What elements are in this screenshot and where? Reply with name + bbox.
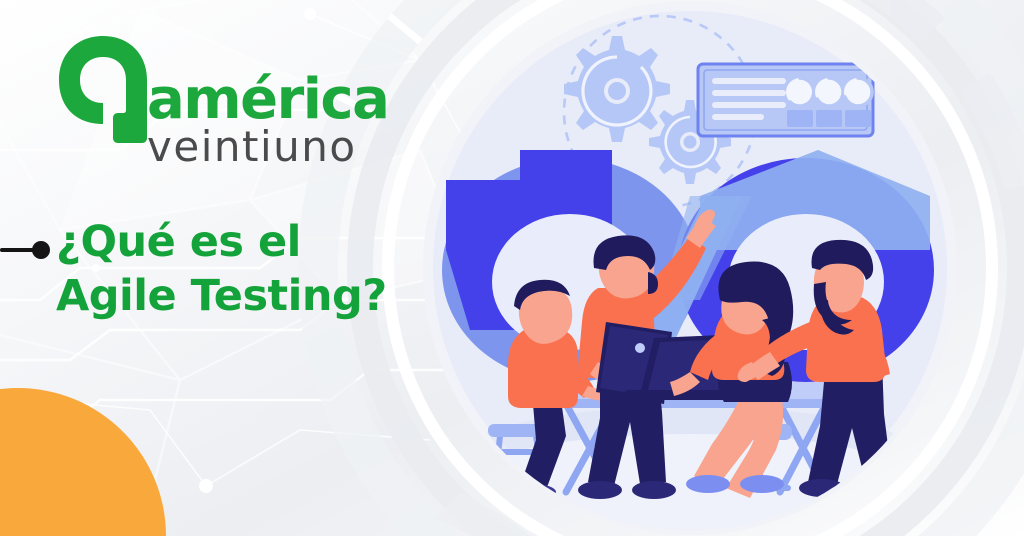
blog-cover-banner: américa veintiuno ¿Qué es el Agile Testi… bbox=[0, 0, 1024, 536]
page-title-line-2: Agile Testing? bbox=[56, 270, 426, 324]
logo-primary-text: américa bbox=[147, 72, 388, 128]
bullet-dot-icon bbox=[32, 241, 50, 259]
logo-secondary-text: veintiuno bbox=[147, 126, 357, 168]
page-title-line-1: ¿Qué es el bbox=[56, 216, 426, 270]
america-veintiuno-a-mark bbox=[55, 34, 151, 144]
dashboard-panel bbox=[698, 64, 873, 136]
page-title: ¿Qué es el Agile Testing? bbox=[56, 216, 426, 324]
brand-logo[interactable]: américa veintiuno bbox=[55, 34, 415, 164]
gear-large bbox=[564, 36, 670, 142]
panel-bars bbox=[787, 110, 871, 127]
panel-progress-dials bbox=[786, 78, 872, 106]
